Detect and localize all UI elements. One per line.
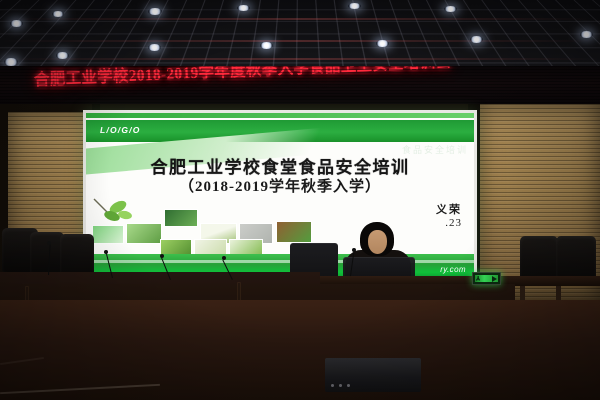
microphone-head <box>160 254 164 258</box>
slide-thumbnail <box>164 209 198 227</box>
exit-sign-face <box>475 275 498 282</box>
slide-footer-highlight <box>86 260 474 263</box>
audience-chair <box>30 232 64 274</box>
slide-thumbnail <box>126 223 162 244</box>
presenter-face <box>368 230 387 254</box>
slide-footer-url: ry.com <box>440 265 466 274</box>
led-banner-text: 合肥工业学校2018-2019学年度秋季入学食品卫生安全培训会 <box>33 66 569 91</box>
av-equipment-case <box>325 358 421 392</box>
running-man-icon <box>476 276 480 281</box>
equipment-indicator <box>347 384 350 387</box>
slide-top-stripe <box>86 113 474 118</box>
arrow-right-icon <box>492 276 497 282</box>
slide-subtitle: （2018-2019学年秋季入学） <box>86 175 474 196</box>
presentation-slide: L/O/G/O 食品安全培训 合肥工业学校食堂食品安全培训 （2018-2019… <box>86 113 474 280</box>
ceiling-downlight <box>348 3 361 9</box>
ceiling-downlight <box>4 58 18 66</box>
slide-author-name: 义荣 <box>436 201 462 217</box>
exit-sign <box>472 272 501 285</box>
ceiling-downlight <box>56 52 69 59</box>
ceiling-downlight <box>237 5 250 11</box>
ceiling-downlight <box>148 44 161 51</box>
led-banner: 合肥工业学校2018-2019学年度秋季入学食品卫生安全培训会 <box>0 66 600 104</box>
ceiling-beam <box>0 58 600 60</box>
microphone-head <box>222 256 226 260</box>
ceiling-downlight <box>470 36 483 43</box>
audience-chair <box>60 234 94 276</box>
slide-date: .23 <box>445 217 462 229</box>
ceiling-downlight <box>260 42 273 49</box>
ceiling-downlight <box>376 40 389 47</box>
slide-thumbnail <box>276 221 312 243</box>
ceiling-downlight <box>148 8 162 15</box>
ceiling-downlight <box>10 20 23 27</box>
ceiling-downlight <box>444 6 457 12</box>
conference-hall-photo: 合肥工业学校2018-2019学年度秋季入学食品卫生安全培训会 L/O/G/O … <box>0 0 600 400</box>
equipment-indicator <box>339 384 342 387</box>
leaf-sprig-illustration <box>92 197 136 223</box>
microphone-head <box>352 248 356 252</box>
ceiling-downlight <box>580 31 593 38</box>
microphone-head <box>104 250 108 254</box>
equipment-indicator <box>331 384 334 387</box>
ceiling-beam <box>0 18 600 20</box>
ceiling-beam <box>0 40 600 42</box>
ceiling-downlight <box>52 11 64 17</box>
microphone-head <box>47 241 51 245</box>
slide-logo-placeholder: L/O/G/O <box>100 125 141 135</box>
slide-thumbnail <box>92 225 124 244</box>
hall-floor <box>0 300 600 400</box>
projection-screen: L/O/G/O 食品安全培训 合肥工业学校食堂食品安全培训 （2018-2019… <box>83 110 477 283</box>
